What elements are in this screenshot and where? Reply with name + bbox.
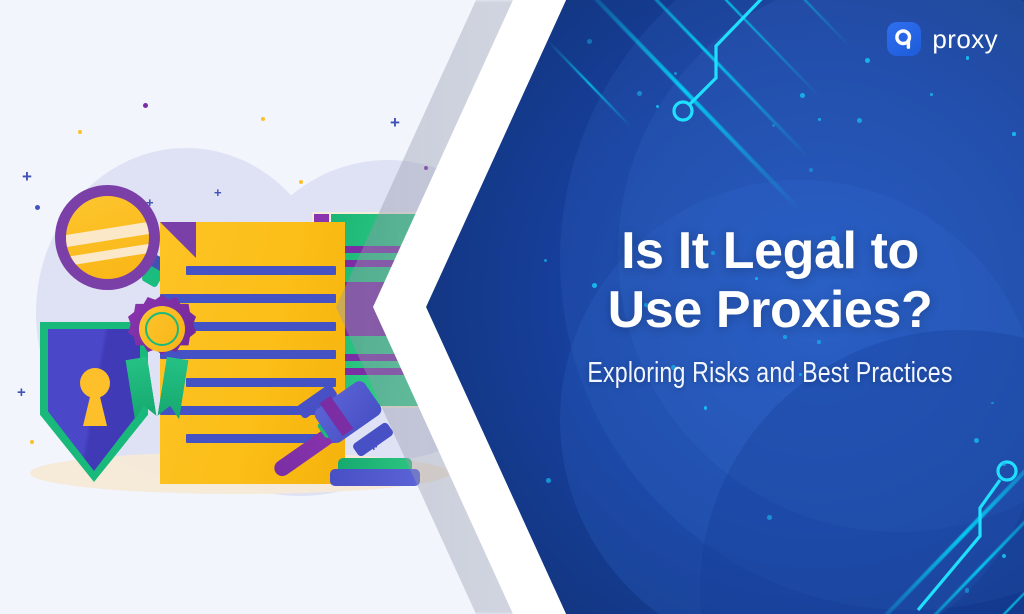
cyan-dot	[865, 58, 870, 63]
subtitle: Exploring Risks and Best Practices	[567, 357, 973, 390]
page-title: Is It Legal to Use Proxies?	[516, 222, 1024, 341]
brand-logo[interactable]: proxy	[887, 22, 998, 56]
proxy-logo-mark-icon	[887, 22, 921, 56]
cyan-dot	[1012, 132, 1015, 135]
cyan-dot	[974, 438, 979, 443]
cyan-dot	[767, 515, 772, 520]
headline-line-2: Use Proxies?	[516, 281, 1024, 340]
document-fold-corner	[160, 222, 196, 258]
rosette-ring	[145, 312, 179, 346]
circuit-trace-top-right-icon	[588, 0, 778, 136]
cyan-dot	[809, 168, 813, 172]
cyan-dot	[800, 93, 805, 98]
headline-line-1: Is It Legal to	[621, 222, 919, 280]
promo-banner: ++++++	[0, 0, 1024, 614]
cyan-dot	[857, 118, 862, 123]
cyan-dot	[818, 118, 820, 120]
cyan-dot	[1002, 462, 1006, 466]
magnifying-glass-icon	[55, 185, 160, 290]
gavel-sound-block-blue	[330, 469, 420, 486]
brand-wordmark: proxy	[932, 26, 998, 52]
cyan-dot	[546, 478, 551, 483]
headline-block: Is It Legal to Use Proxies? Exploring Ri…	[516, 222, 1024, 390]
